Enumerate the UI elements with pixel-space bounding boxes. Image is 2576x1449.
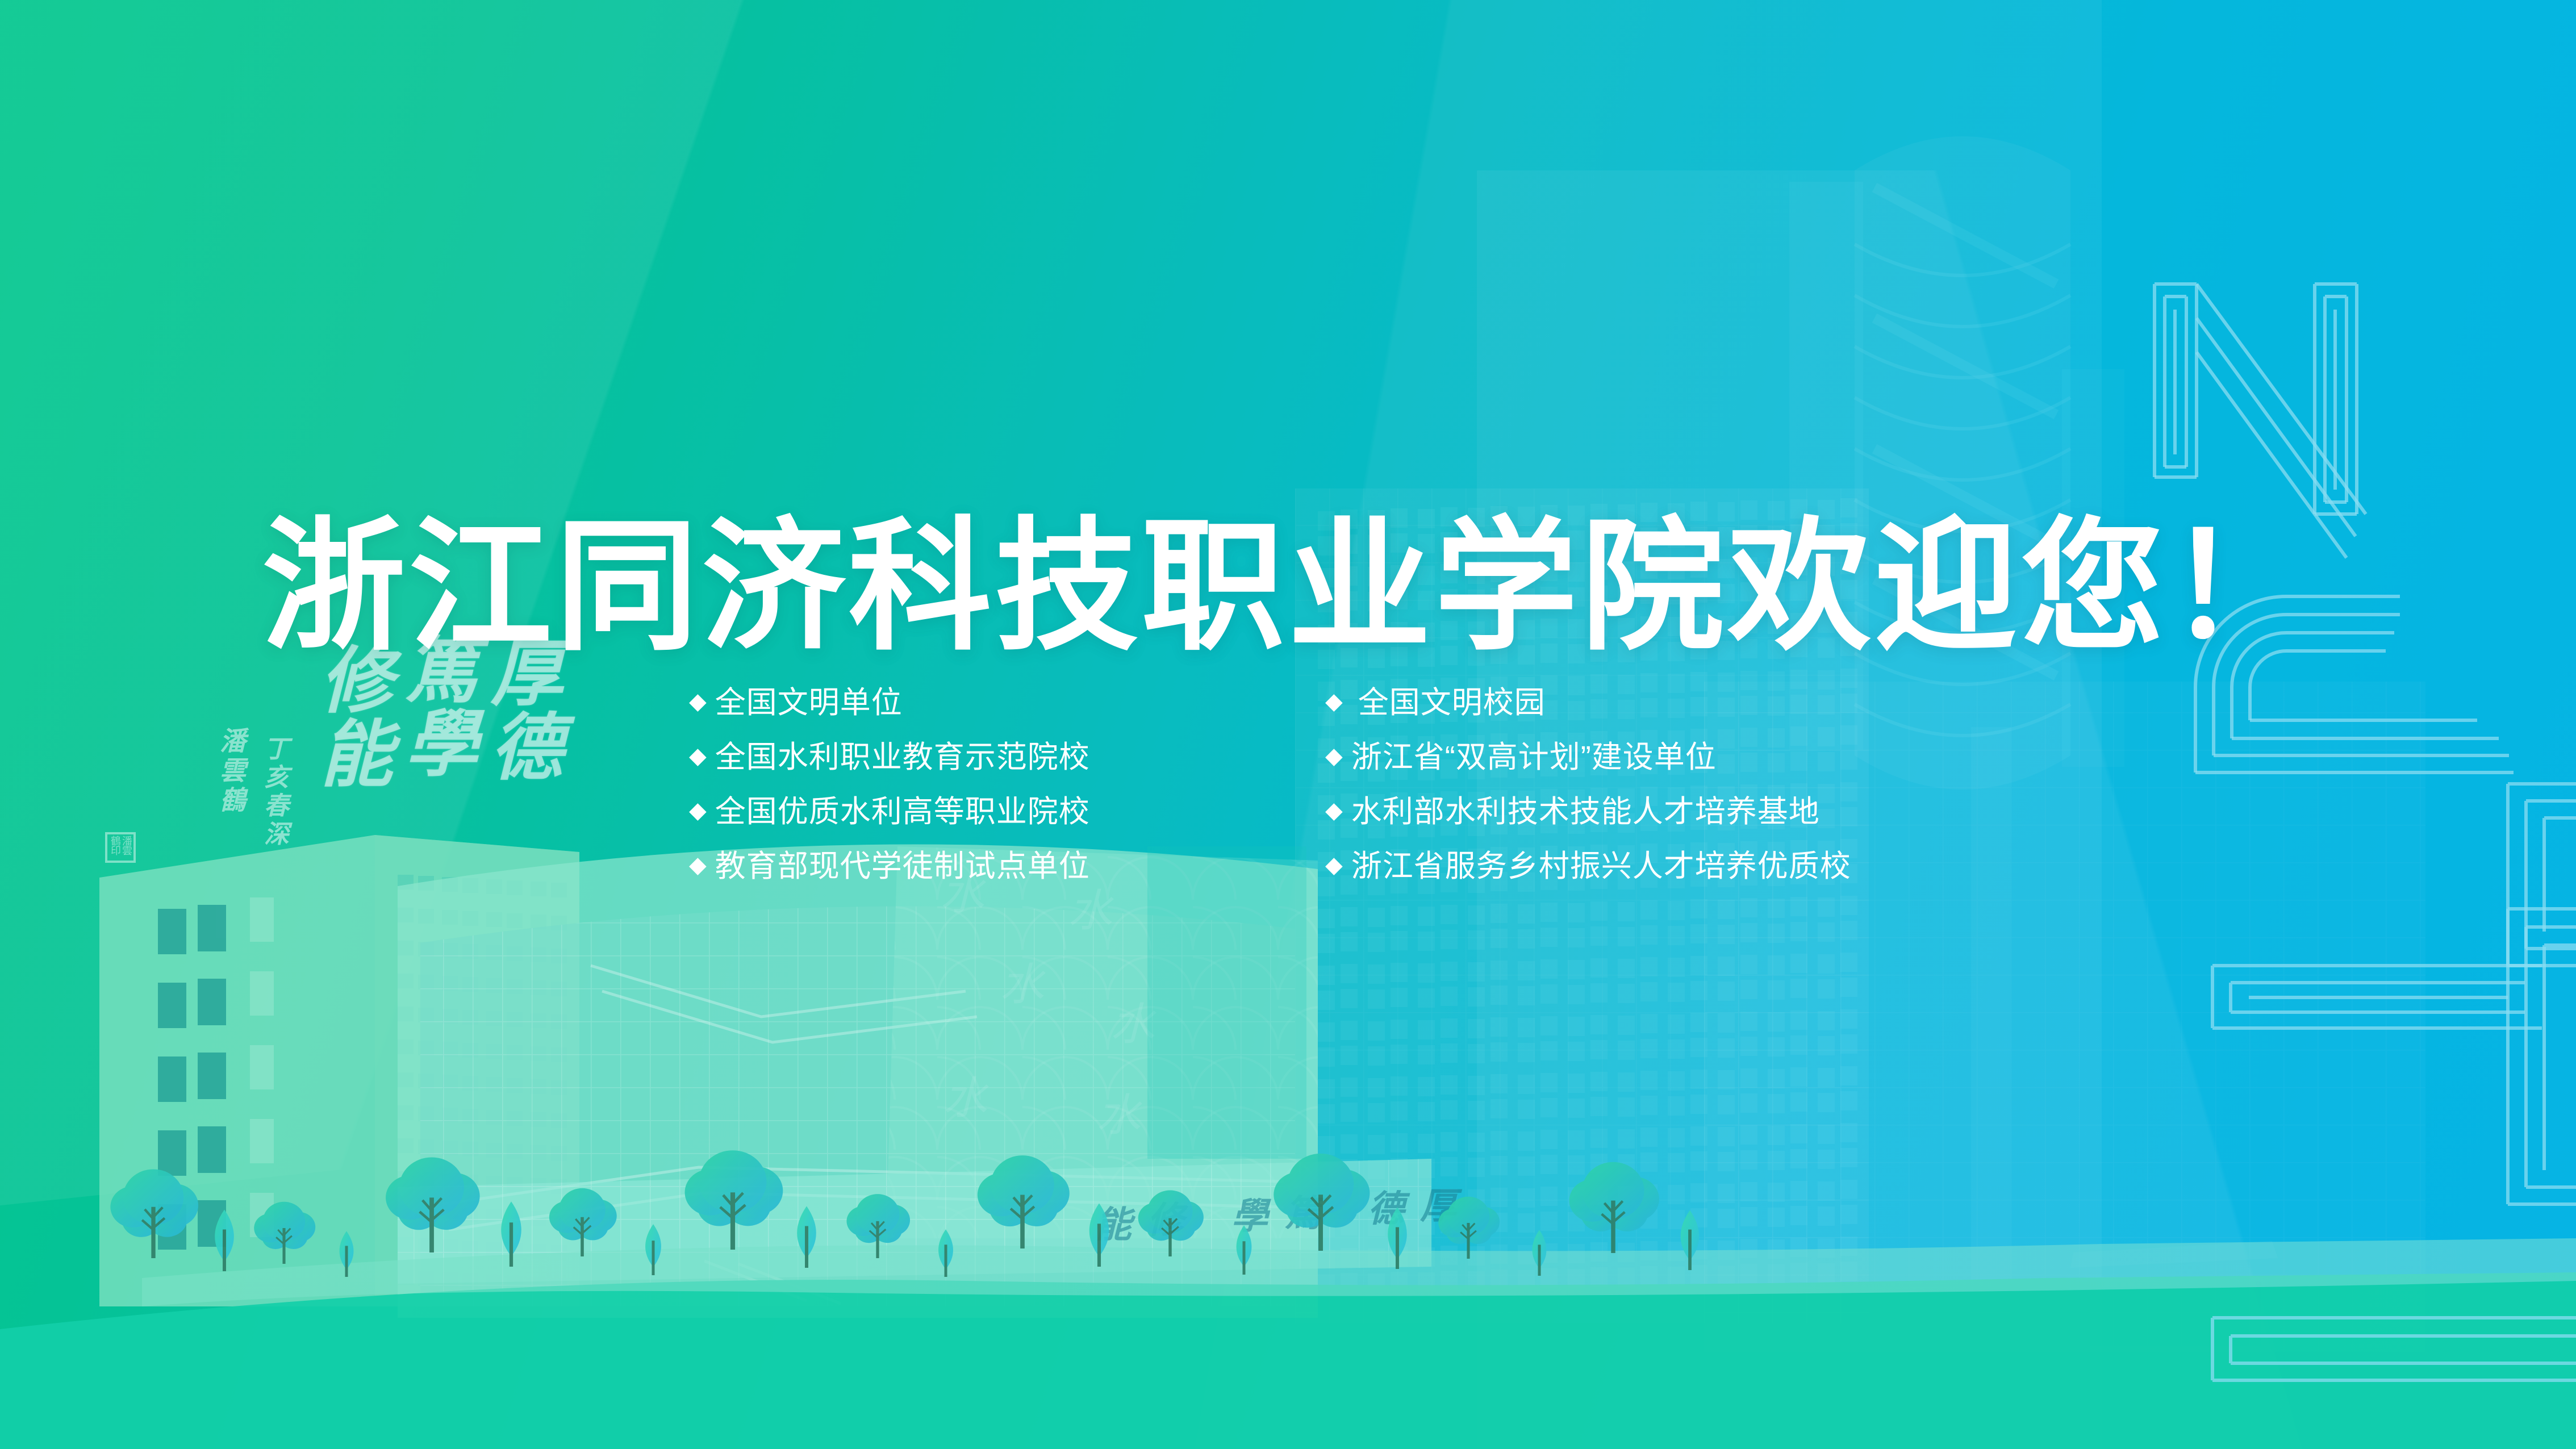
- honour-label: 浙江省“双高计划”建设单位: [1351, 730, 1717, 784]
- honour-label: 全国水利职业教育示范院校: [715, 730, 1090, 784]
- welcome-banner: 水 水 水 水 水 水 能 修 學 篤: [0, 0, 2576, 1449]
- diamond-bullet-icon: ◆: [1325, 745, 1343, 767]
- list-item: ◆ 全国文明校园: [1325, 675, 1851, 730]
- list-item: ◆ 教育部现代学徒制试点单位: [689, 839, 1090, 893]
- honours-list-right: ◆ 全国文明校园 ◆ 浙江省“双高计划”建设单位 ◆ 水利部水利技术技能人才培养…: [1325, 675, 1851, 893]
- list-item: ◆ 浙江省服务乡村振兴人才培养优质校: [1325, 839, 1851, 893]
- svg-text:學: 學: [1231, 1196, 1272, 1237]
- list-item: ◆ 水利部水利技术技能人才培养基地: [1325, 784, 1851, 839]
- list-item: ◆ 全国水利职业教育示范院校: [689, 730, 1090, 784]
- honour-label: 教育部现代学徒制试点单位: [715, 839, 1090, 893]
- diamond-bullet-icon: ◆: [1325, 854, 1343, 876]
- honour-label: 全国文明校园: [1358, 675, 1546, 730]
- diamond-bullet-icon: ◆: [689, 745, 707, 767]
- campus-illustration: 水 水 水 水 水 水 能 修 學 篤: [0, 0, 2576, 1449]
- page-title: 浙江同济科技职业学院欢迎您！: [0, 508, 2576, 667]
- lawn-foreground: [0, 1238, 2576, 1449]
- honour-label: 全国文明单位: [715, 675, 903, 730]
- list-item: ◆ 全国优质水利高等职业院校: [689, 784, 1090, 839]
- diamond-bullet-icon: ◆: [689, 799, 707, 822]
- svg-text:水: 水: [943, 1074, 989, 1123]
- list-item: ◆ 全国文明单位: [689, 675, 1090, 730]
- diamond-bullet-icon: ◆: [689, 854, 707, 876]
- center-tower-block: [1147, 846, 1306, 1159]
- honours-list-left: ◆ 全国文明单位 ◆ 全国水利职业教育示范院校 ◆ 全国优质水利高等职业院校 ◆…: [689, 675, 1090, 893]
- honour-label: 浙江省服务乡村振兴人才培养优质校: [1351, 839, 1851, 893]
- honour-label: 水利部水利技术技能人才培养基地: [1351, 784, 1820, 839]
- diamond-bullet-icon: ◆: [1325, 690, 1343, 713]
- diamond-bullet-icon: ◆: [1325, 799, 1343, 822]
- list-item: ◆ 浙江省“双高计划”建设单位: [1325, 730, 1851, 784]
- diamond-bullet-icon: ◆: [689, 690, 707, 713]
- honour-label: 全国优质水利高等职业院校: [715, 784, 1090, 839]
- svg-text:水: 水: [1096, 1091, 1142, 1140]
- svg-text:水: 水: [1000, 960, 1046, 1009]
- svg-text:水: 水: [1068, 886, 1114, 936]
